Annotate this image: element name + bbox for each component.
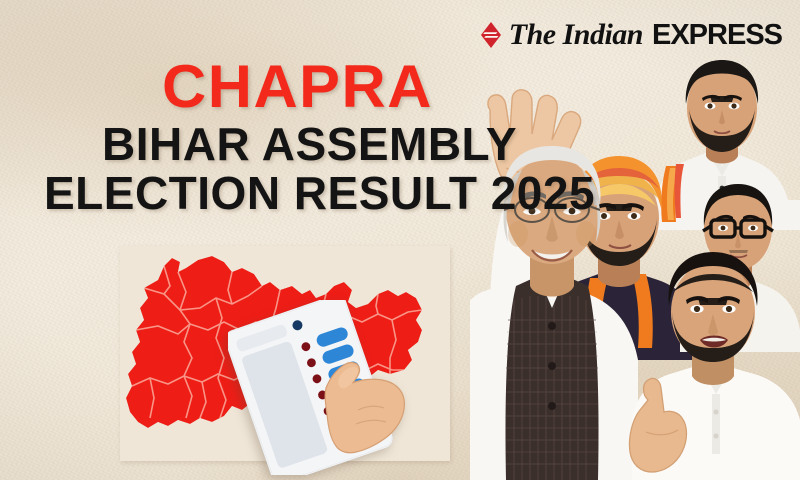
electronic-voting-machine [228, 300, 408, 475]
masthead-the-indian: The Indian [509, 20, 643, 50]
page-subtitle-line-1: BIHAR ASSEMBLY [102, 122, 595, 167]
indian-express-masthead[interactable]: The Indian EXPRESS [480, 20, 782, 50]
masthead-express: EXPRESS [652, 21, 782, 50]
page-subtitle-line-2: ELECTION RESULT 2025 [44, 171, 595, 216]
election-result-poster: CHAPRA BIHAR ASSEMBLY ELECTION RESULT 20… [0, 0, 800, 480]
indian-express-logo-icon [480, 22, 502, 48]
page-title-city: CHAPRA [162, 58, 604, 116]
headline-block: CHAPRA BIHAR ASSEMBLY ELECTION RESULT 20… [44, 58, 595, 215]
